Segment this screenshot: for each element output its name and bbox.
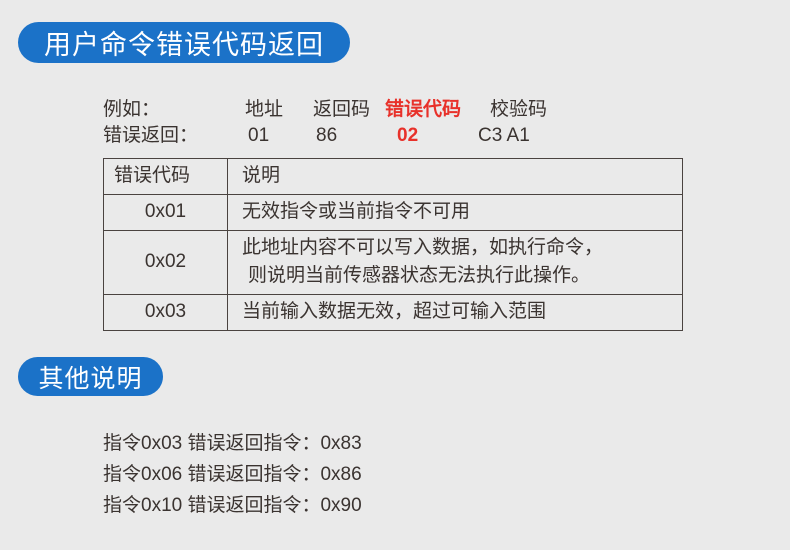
description-line: 则说明当前传感器状态无法执行此操作。: [242, 262, 682, 290]
table-cell-description: 当前输入数据无效，超过可输入范围: [228, 295, 683, 331]
example-header-row: 例如： 地址 返回码 错误代码 校验码: [103, 97, 703, 123]
example-header-error-code: 错误代码: [385, 97, 461, 123]
table-row: 0x02 此地址内容不可以写入数据，如执行命令， 则说明当前传感器状态无法执行此…: [104, 231, 683, 295]
table-header-description: 说明: [228, 159, 683, 195]
note-line: 指令0x03 错误返回指令：0x83: [103, 428, 362, 459]
table-row: 0x01 无效指令或当前指令不可用: [104, 195, 683, 231]
table-cell-code: 0x02: [104, 231, 228, 295]
example-values-label: 错误返回：: [103, 123, 198, 149]
example-value-row: 错误返回： 01 86 02 C3 A1: [103, 123, 703, 149]
description-line: 此地址内容不可以写入数据，如执行命令，: [242, 234, 682, 262]
example-header-checksum: 校验码: [490, 97, 547, 123]
table-header-error-code: 错误代码: [104, 159, 228, 195]
section-heading-other-notes: 其他说明: [18, 357, 163, 396]
table-cell-code: 0x03: [104, 295, 228, 331]
error-code-table: 错误代码 说明 0x01 无效指令或当前指令不可用 0x02 此地址内容不可以写…: [103, 158, 683, 331]
table-cell-code: 0x01: [104, 195, 228, 231]
example-header-return-code: 返回码: [313, 97, 370, 123]
description-line: 无效指令或当前指令不可用: [242, 198, 682, 226]
example-value-checksum: C3 A1: [478, 123, 530, 149]
table-cell-description: 无效指令或当前指令不可用: [228, 195, 683, 231]
example-value-return-code: 86: [316, 123, 337, 149]
example-value-address: 01: [248, 123, 269, 149]
note-line: 指令0x10 错误返回指令：0x90: [103, 490, 362, 521]
description-line: 当前输入数据无效，超过可输入范围: [242, 298, 682, 326]
example-value-error-code: 02: [397, 123, 418, 149]
section-heading-user-command-error-code: 用户命令错误代码返回: [18, 22, 350, 63]
other-notes-list: 指令0x03 错误返回指令：0x83 指令0x06 错误返回指令：0x86 指令…: [103, 428, 362, 521]
example-label: 例如：: [103, 97, 160, 123]
page-root: 用户命令错误代码返回 例如： 地址 返回码 错误代码 校验码 错误返回： 01 …: [0, 0, 790, 550]
example-header-address: 地址: [245, 97, 283, 123]
section-heading-2-label: 其他说明: [38, 359, 142, 395]
table-cell-description: 此地址内容不可以写入数据，如执行命令， 则说明当前传感器状态无法执行此操作。: [228, 231, 683, 295]
note-line: 指令0x06 错误返回指令：0x86: [103, 459, 362, 490]
example-block: 例如： 地址 返回码 错误代码 校验码 错误返回： 01 86 02 C3 A1: [103, 97, 703, 149]
table-header-row: 错误代码 说明: [104, 159, 683, 195]
section-heading-1-label: 用户命令错误代码返回: [44, 23, 324, 62]
table-row: 0x03 当前输入数据无效，超过可输入范围: [104, 295, 683, 331]
